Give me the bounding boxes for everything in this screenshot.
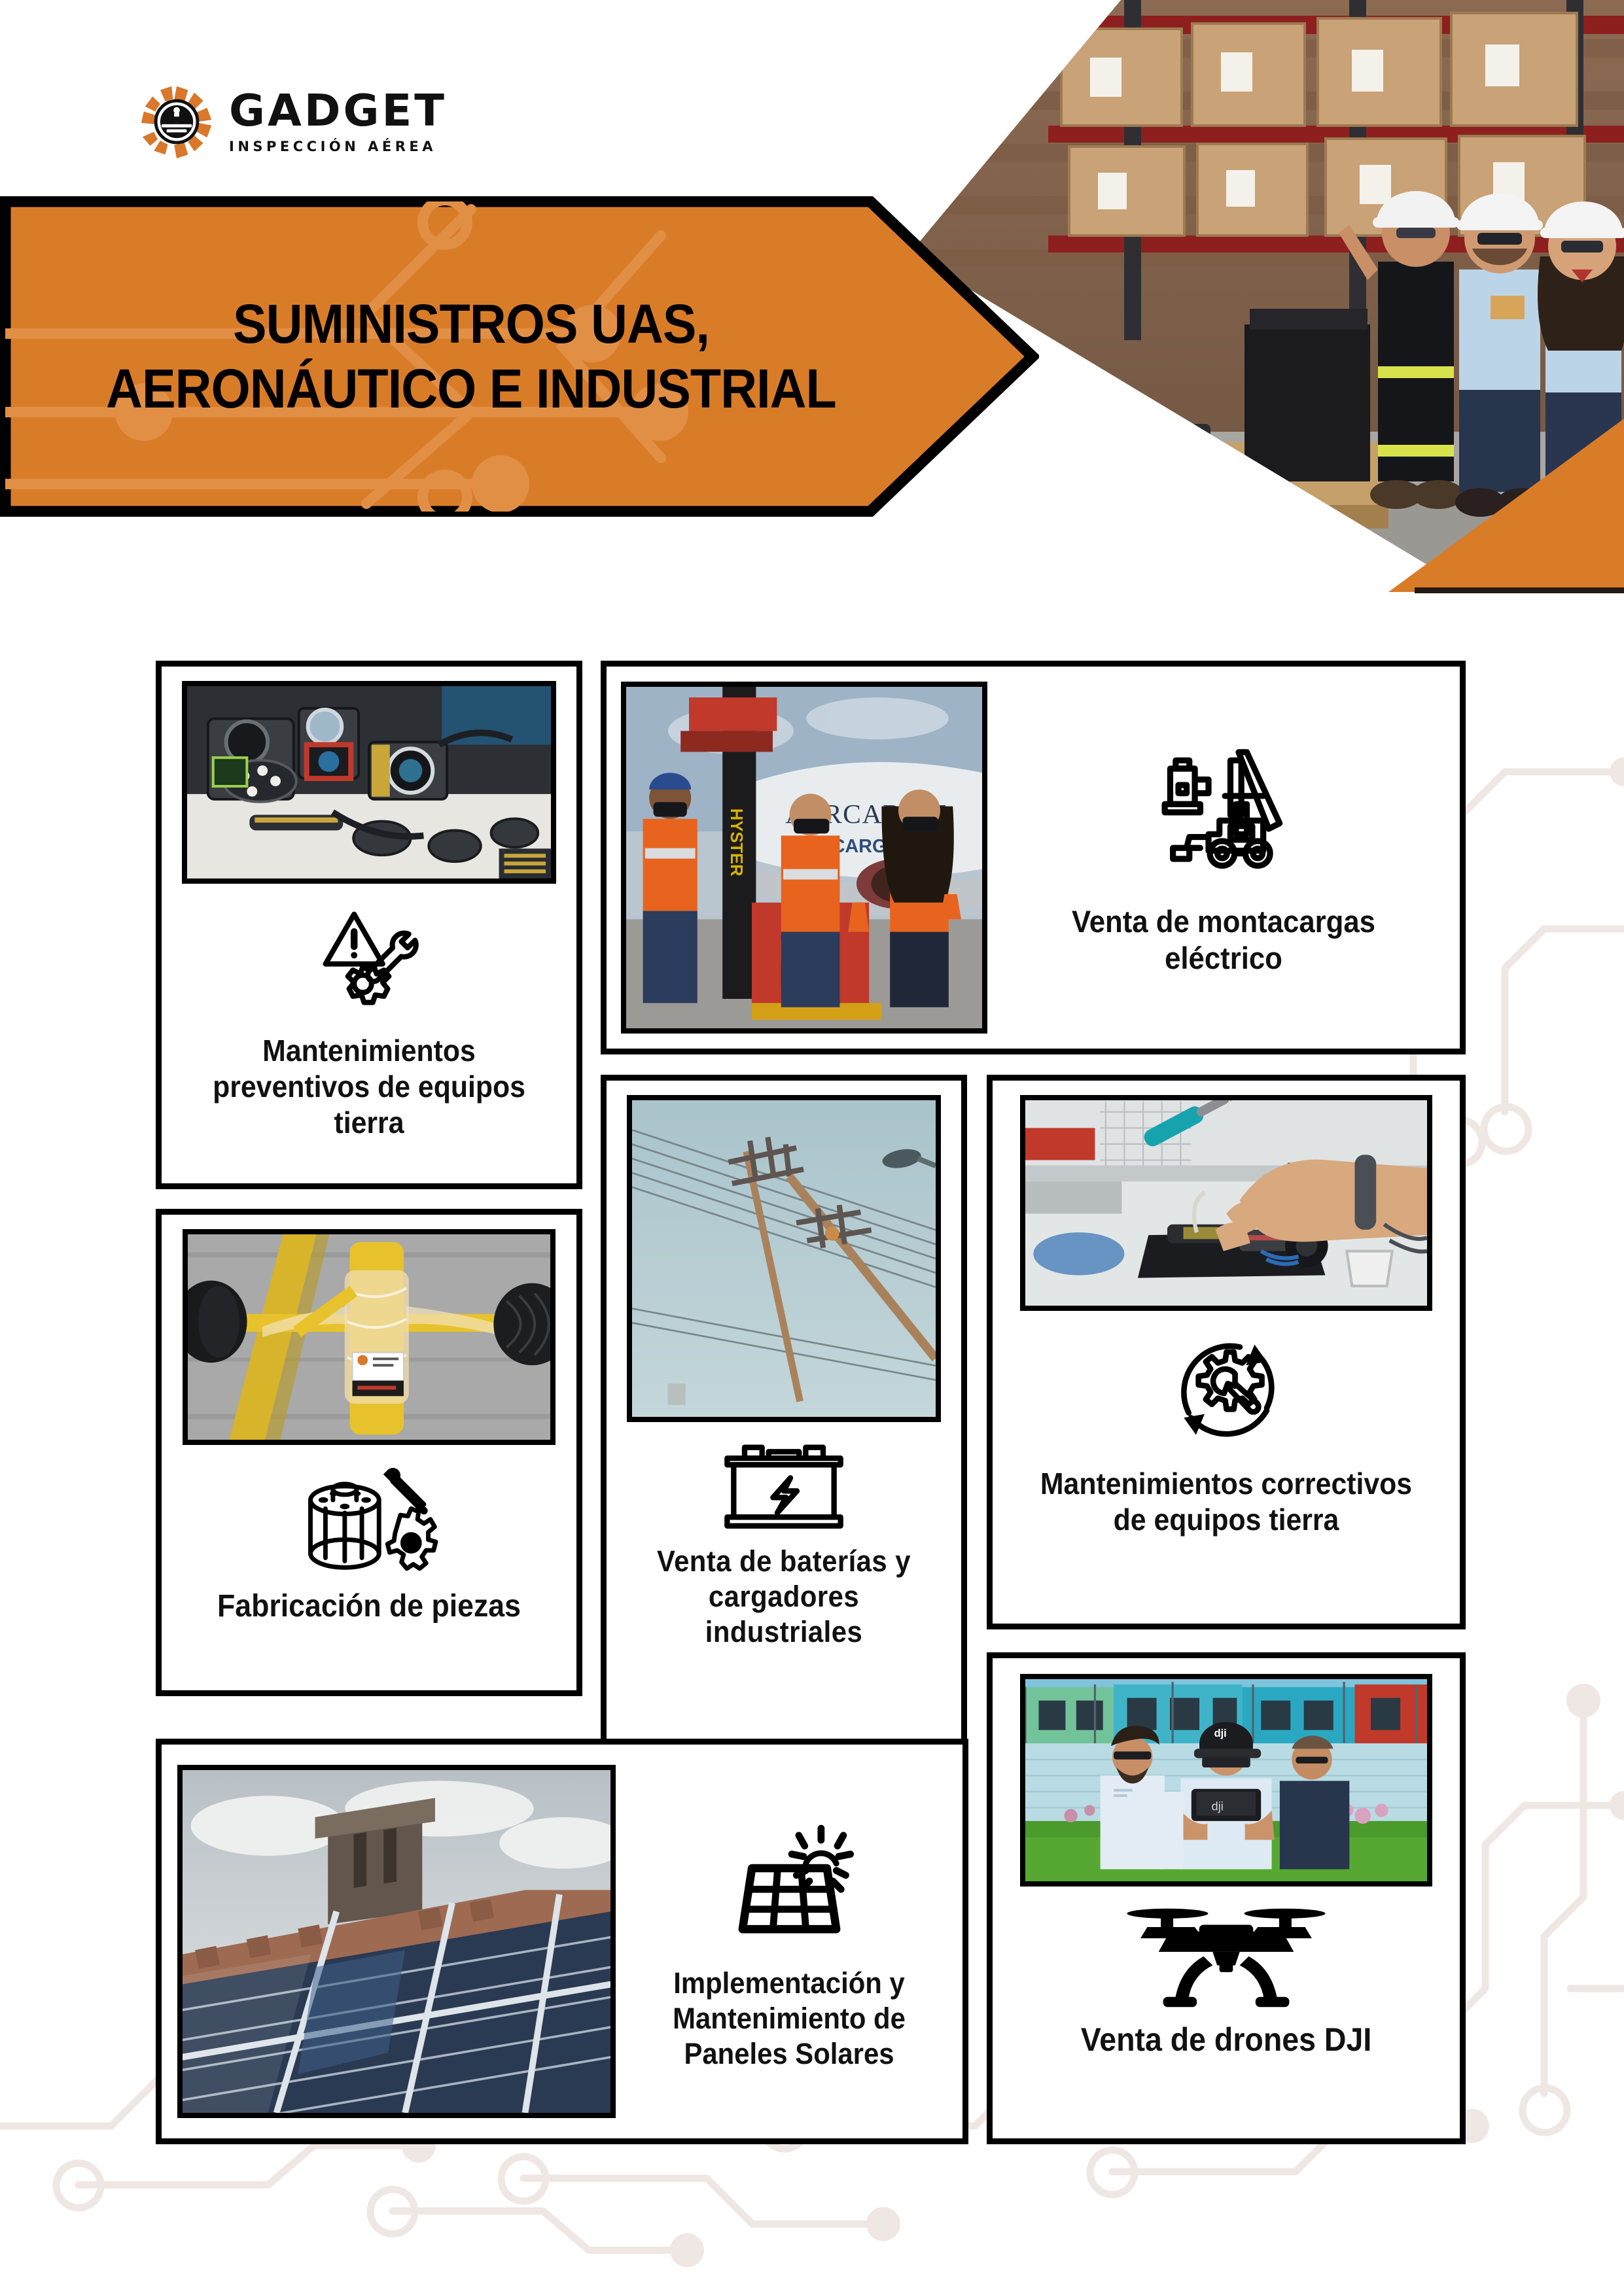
- warning-wrench-gear-icon: [307, 897, 431, 1021]
- service-card-venta-drones-dji[interactable]: dji dji: [987, 1652, 1466, 2144]
- quadcopter-drone-icon: [1125, 1893, 1328, 2017]
- service-card-venta-montacargas[interactable]: AERCARIBE CARGO HYSTER: [601, 661, 1466, 1054]
- services-grid: Mantenimientos preventivos de equipos ti…: [0, 0, 1624, 2296]
- disassembled-camera-parts-photo: [182, 681, 556, 884]
- service-label: Venta de baterías y cargadores industria…: [638, 1544, 930, 1650]
- hand-soldering-drone-board-photo: [1020, 1095, 1432, 1311]
- battery-bolt-icon: [718, 1436, 849, 1535]
- rooftop-solar-panels-chimney-photo: [177, 1765, 616, 2118]
- service-label: Mantenimientos correctivos de equipos ti…: [1038, 1466, 1415, 1538]
- yellow-axle-wheels-wrapped-photo: [183, 1229, 556, 1445]
- service-card-mantenimientos-preventivos[interactable]: Mantenimientos preventivos de equipos ti…: [156, 661, 582, 1189]
- solar-panel-sun-icon: [719, 1812, 860, 1953]
- service-label: Implementación y Mantenimiento de Panele…: [640, 1966, 938, 2072]
- service-card-fabricacion-piezas[interactable]: Fabricación de piezas: [156, 1209, 582, 1696]
- cylinder-gear-bolt-icon: [299, 1459, 440, 1577]
- service-card-paneles-solares[interactable]: Implementación y Mantenimiento de Panele…: [156, 1739, 968, 2144]
- telehandler-forklift-icon: [1148, 739, 1299, 889]
- service-label: Fabricación de piezas: [186, 1588, 552, 1626]
- svg-text:HYSTER: HYSTER: [727, 809, 745, 877]
- power-lines-sky-photo: [627, 1095, 941, 1422]
- service-card-mantenimientos-correctivos[interactable]: Mantenimientos correctivos de equipos ti…: [987, 1075, 1466, 1629]
- svg-text:dji: dji: [1214, 1728, 1227, 1739]
- pilots-flying-dji-drone-photo: dji dji: [1020, 1674, 1432, 1887]
- service-label: Venta de montacargas eléctrico: [1053, 903, 1394, 977]
- forklift-crew-aercaribe-cargo-photo: AERCARIBE CARGO HYSTER: [621, 682, 987, 1034]
- svg-text:dji: dji: [1211, 1800, 1223, 1813]
- service-label: Mantenimientos preventivos de equipos ti…: [205, 1033, 533, 1141]
- refresh-gear-wrench-icon: [1159, 1323, 1294, 1457]
- service-label: Venta de drones DJI: [1031, 2020, 1421, 2059]
- service-card-venta-baterias[interactable]: Venta de baterías y cargadores industria…: [601, 1075, 967, 1752]
